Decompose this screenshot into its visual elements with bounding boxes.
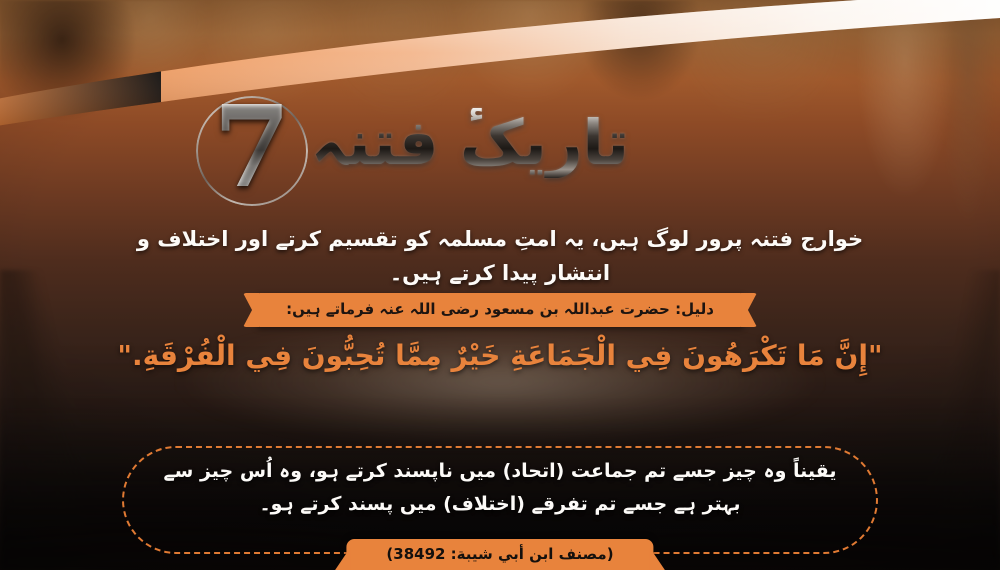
chapter-number-badge: 7 xyxy=(196,96,308,206)
evidence-ribbon: دلیل: حضرت عبداللہ بن مسعود رضی اللہ عنہ… xyxy=(256,293,744,327)
page-title-text: تاریکٔ فتنہ xyxy=(311,108,629,178)
source-citation-badge: (مصنف ابن أبي شيبة: 38492) xyxy=(346,539,653,570)
subtitle-text: خوارج فتنہ پرور لوگ ہیں، یہ امتِ مسلمہ ک… xyxy=(120,222,880,290)
translation-urdu-text: یقیناً وہ چیز جسے تم جماعت (اتحاد) میں ن… xyxy=(150,455,850,521)
page-title: تاریکٔ فتنہ xyxy=(0,108,1000,178)
chapter-number-value: 7 xyxy=(196,92,308,204)
source-citation-label: (مصنف ابن أبي شيبة: 38492) xyxy=(346,539,653,570)
hadith-arabic-text: "إِنَّ مَا تَكْرَهُونَ فِي الْجَمَاعَةِ … xyxy=(100,334,900,378)
poster-canvas: 7 تاریکٔ فتنہ خوارج فتنہ پرور لوگ ہیں، ی… xyxy=(0,0,1000,570)
evidence-ribbon-label: دلیل: حضرت عبداللہ بن مسعود رضی اللہ عنہ… xyxy=(256,293,744,327)
